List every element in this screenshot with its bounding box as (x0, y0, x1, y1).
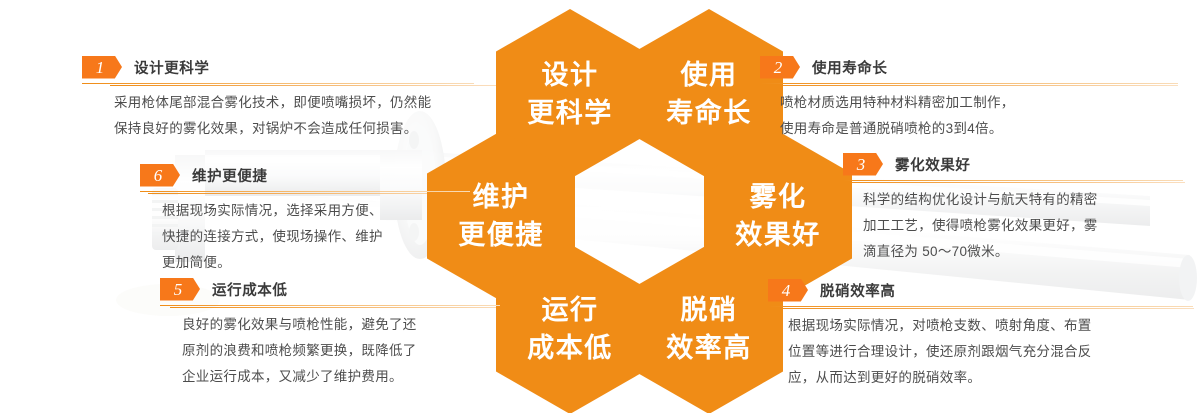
feature-block-6: 6 维护更便捷 根据现场实际情况，选择采用方便、 快捷的连接方式，使现场操作、维… (140, 163, 470, 276)
hex-atomization-line2: 效果好 (735, 216, 821, 254)
feature-6-number-badge: 6 (140, 164, 180, 187)
feature-2-line-2: 使用寿命是普通脱硝喷枪的3到4倍。 (780, 116, 1178, 142)
feature-block-1: 1 设计更科学 采用枪体尾部混合雾化技术，即便喷嘴损坏，仍然能 保持良好的雾化效… (82, 55, 474, 142)
feature-1-header: 1 设计更科学 (82, 55, 474, 79)
hex-denitration-line2: 效率高 (666, 329, 752, 367)
feature-4-divider (768, 306, 1193, 307)
hex-lifespan-line2: 寿命长 (666, 94, 752, 132)
feature-4-header: 4 脱硝效率高 (768, 278, 1193, 302)
feature-2-divider (760, 83, 1178, 84)
hex-design-line2: 更科学 (527, 94, 613, 132)
feature-6-line-2: 快捷的连接方式，使现场操作、维护 (162, 224, 470, 250)
hex-design-line1: 设计 (542, 56, 599, 94)
feature-5-line-2: 原剂的浪费和喷枪频繁更换，既降低了 (182, 338, 500, 364)
feature-2-title: 使用寿命长 (812, 57, 888, 78)
feature-4-line-3: 应，从而达到更好的脱硝效率。 (788, 365, 1193, 391)
hex-maintenance-line2: 更便捷 (458, 216, 544, 254)
hex-lifespan-line1: 使用 (681, 56, 738, 94)
feature-3-line-1: 科学的结构优化设计与航天特有的精密 (863, 187, 1183, 213)
feature-3-line-2: 加工工艺，使得喷枪雾化效果更好，雾 (863, 213, 1183, 239)
feature-6-line-3: 更加简便。 (162, 250, 470, 276)
feature-2-line-1: 喷枪材质选用特种材料精密加工制作， (780, 90, 1178, 116)
hex-atomization-line1: 雾化 (750, 178, 807, 216)
feature-5-line-1: 良好的雾化效果与喷枪性能，避免了还 (182, 312, 500, 338)
feature-6-line-1: 根据现场实际情况，选择采用方便、 (162, 198, 470, 224)
feature-1-title: 设计更科学 (134, 57, 210, 78)
feature-3-line-3: 滴直径为 50～70微米。 (863, 239, 1183, 265)
hex-denitration-line1: 脱硝 (681, 291, 738, 329)
feature-3-title: 雾化效果好 (895, 154, 971, 175)
feature-4-title: 脱硝效率高 (820, 280, 896, 301)
feature-1-line-2: 保持良好的雾化效果，对锅炉不会造成任何损害。 (114, 116, 474, 142)
hex-cost-line1: 运行 (542, 291, 599, 329)
feature-5-title: 运行成本低 (212, 279, 288, 300)
hex-cost-line2: 成本低 (527, 329, 613, 367)
feature-2-header: 2 使用寿命长 (760, 55, 1178, 79)
feature-block-4: 4 脱硝效率高 根据现场实际情况，对喷枪支数、喷射角度、布置 位置等进行合理设计… (768, 278, 1193, 391)
feature-5-body: 良好的雾化效果与喷枪性能，避免了还 原剂的浪费和喷枪频繁更换，既降低了 企业运行… (160, 312, 500, 390)
feature-1-body: 采用枪体尾部混合雾化技术，即便喷嘴损坏，仍然能 保持良好的雾化效果，对锅炉不会造… (82, 90, 474, 142)
feature-4-line-1: 根据现场实际情况，对喷枪支数、喷射角度、布置 (788, 313, 1193, 339)
feature-1-line-1: 采用枪体尾部混合雾化技术，即便喷嘴损坏，仍然能 (114, 90, 474, 116)
feature-block-5: 5 运行成本低 良好的雾化效果与喷枪性能，避免了还 原剂的浪费和喷枪频繁更换，既… (160, 277, 500, 390)
feature-5-number-badge: 5 (160, 278, 200, 301)
hex-maintenance-line1: 维护 (473, 178, 530, 216)
feature-3-divider (843, 180, 1183, 181)
feature-6-body: 根据现场实际情况，选择采用方便、 快捷的连接方式，使现场操作、维护 更加简便。 (140, 198, 470, 276)
feature-block-2: 2 使用寿命长 喷枪材质选用特种材料精密加工制作， 使用寿命是普通脱硝喷枪的3到… (760, 55, 1178, 142)
feature-4-line-2: 位置等进行合理设计，使还原剂跟烟气充分混合反 (788, 339, 1193, 365)
feature-block-3: 3 雾化效果好 科学的结构优化设计与航天特有的精密 加工工艺，使得喷枪雾化效果更… (843, 152, 1183, 265)
feature-2-body: 喷枪材质选用特种材料精密加工制作， 使用寿命是普通脱硝喷枪的3到4倍。 (760, 90, 1178, 142)
feature-6-divider (140, 191, 470, 192)
feature-3-header: 3 雾化效果好 (843, 152, 1183, 176)
feature-4-number-badge: 4 (768, 279, 808, 302)
feature-6-title: 维护更便捷 (192, 165, 268, 186)
feature-5-header: 5 运行成本低 (160, 277, 500, 301)
feature-3-number-badge: 3 (843, 153, 883, 176)
feature-1-number-badge: 1 (82, 56, 122, 79)
feature-3-body: 科学的结构优化设计与航天特有的精密 加工工艺，使得喷枪雾化效果更好，雾 滴直径为… (843, 187, 1183, 265)
infographic-canvas: 设计 更科学 使用 寿命长 维护 更便捷 雾化 效果好 运行 成本低 脱硝 效率… (0, 0, 1197, 413)
feature-2-number-badge: 2 (760, 56, 800, 79)
feature-6-header: 6 维护更便捷 (140, 163, 470, 187)
feature-1-divider (82, 83, 474, 84)
feature-5-divider (160, 305, 500, 306)
feature-5-line-3: 企业运行成本，又减少了维护费用。 (182, 364, 500, 390)
feature-4-body: 根据现场实际情况，对喷枪支数、喷射角度、布置 位置等进行合理设计，使还原剂跟烟气… (768, 313, 1193, 391)
